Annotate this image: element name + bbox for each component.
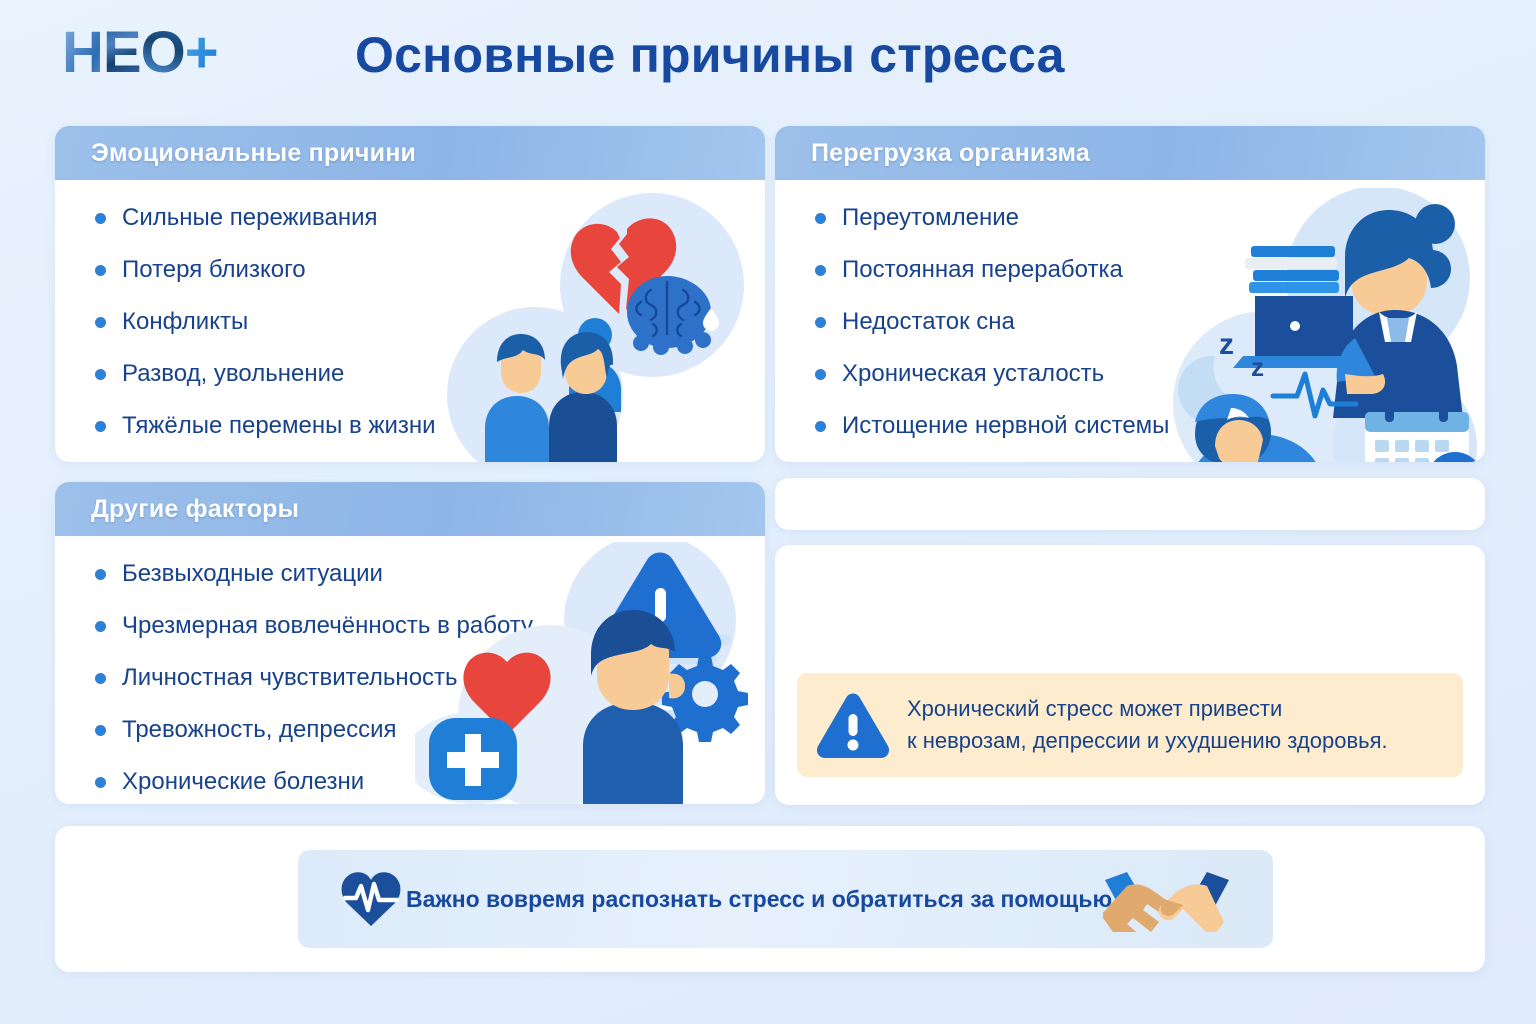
list-item: Хронические болезни	[95, 768, 533, 796]
bullet-dot-icon	[95, 421, 106, 432]
list-overload-causes: Переутомление Постоянная переработка Нед…	[815, 204, 1169, 462]
list-item: Чрезмерная вовлечённость в работу	[95, 612, 533, 640]
list-item-label: Безвыходные ситуации	[122, 560, 383, 588]
list-other-factors: Безвыходные ситуации Чрезмерная вовлечён…	[95, 560, 533, 804]
card-footer: Важно вовремя распознать стресс и обрати…	[55, 826, 1485, 972]
list-item: Недостаток сна	[815, 308, 1169, 336]
card-header-other: Другие факторы	[55, 482, 765, 536]
list-item-label: Чрезмерная вовлечённость в работу	[122, 612, 533, 640]
broken-heart-brain-couple-icon	[445, 190, 765, 462]
list-item: Истощение нервной системы	[815, 412, 1169, 440]
list-item-label: Личностная чувствительность	[122, 664, 458, 692]
svg-text:z: z	[1251, 352, 1264, 382]
card-warning: Хронический стресс может привести к невр…	[775, 545, 1485, 805]
list-item-label: Потеря близкого	[122, 256, 306, 284]
card-header-overload: Перегрузка организма	[775, 126, 1485, 180]
svg-text:z: z	[1219, 328, 1234, 361]
card-header-label: Эмоциональные причини	[91, 139, 416, 168]
card-body-emotional: Сильные переживания Потеря близкого Конф…	[55, 180, 765, 462]
heart-pulse-icon	[340, 870, 402, 928]
callout-text: Хронический стресс может привести к невр…	[907, 693, 1388, 757]
card-spacer-right	[775, 478, 1485, 530]
footer-banner: Важно вовремя распознать стресс и обрати…	[298, 850, 1273, 948]
list-item-label: Постоянная переработка	[842, 256, 1123, 284]
bullet-dot-icon	[95, 621, 106, 632]
list-item: Тревожность, депрессия	[95, 716, 533, 744]
bullet-dot-icon	[95, 213, 106, 224]
card-header-label: Другие факторы	[91, 495, 299, 524]
bullet-dot-icon	[95, 317, 106, 328]
card-body-overload-content: Переутомление Постоянная переработка Нед…	[775, 180, 1485, 462]
bullet-dot-icon	[815, 213, 826, 224]
list-item: Личностная чувствительность	[95, 664, 533, 692]
callout-line-2: к неврозам, депрессии и ухудшению здоров…	[907, 725, 1388, 757]
bullet-dot-icon	[815, 421, 826, 432]
list-item-label: Переутомление	[842, 204, 1019, 232]
card-header-emotional: Эмоциональные причини	[55, 126, 765, 180]
list-item: Тяжёлые перемены в жизни	[95, 412, 436, 440]
list-item-label: Конфликты	[122, 308, 248, 336]
handshake-icon	[1103, 866, 1231, 932]
card-other-factors: Другие факторы Безвыходные ситуации Чрез…	[55, 482, 765, 804]
list-item-label: Хроническая усталость	[842, 360, 1104, 388]
bullet-dot-icon	[95, 569, 106, 580]
bullet-dot-icon	[95, 369, 106, 380]
card-body-other: Безвыходные ситуации Чрезмерная вовлечён…	[55, 536, 765, 804]
footer-text: Важно вовремя распознать стресс и обрати…	[406, 886, 1119, 913]
list-item: Потеря близкого	[95, 256, 436, 284]
list-item: Сильные переживания	[95, 204, 436, 232]
list-item: Развод, увольнение	[95, 360, 436, 388]
list-item: Хроническая усталость	[815, 360, 1169, 388]
card-body-overload: Перегрузка организма Переутомление Посто…	[775, 126, 1485, 462]
bullet-dot-icon	[815, 369, 826, 380]
bullet-dot-icon	[95, 777, 106, 788]
list-item: Постоянная переработка	[815, 256, 1169, 284]
list-item-label: Хронические болезни	[122, 768, 364, 796]
infographic-board: Эмоциональные причини Сильные переживани…	[0, 0, 1536, 1024]
bullet-dot-icon	[95, 725, 106, 736]
list-item-label: Развод, увольнение	[122, 360, 344, 388]
callout-line-1: Хронический стресс может привести	[907, 696, 1282, 721]
list-item-label: Истощение нервной системы	[842, 412, 1169, 440]
list-emotional-causes: Сильные переживания Потеря близкого Конф…	[95, 204, 436, 462]
card-header-label: Перегрузка организма	[811, 139, 1090, 168]
list-item-label: Тяжёлые перемены в жизни	[122, 412, 436, 440]
list-item: Переутомление	[815, 204, 1169, 232]
bullet-dot-icon	[815, 265, 826, 276]
card-emotional-causes: Эмоциональные причини Сильные переживани…	[55, 126, 765, 462]
bullet-dot-icon	[95, 265, 106, 276]
bullet-dot-icon	[95, 673, 106, 684]
overwork-sleep-calendar-icon: z z	[1173, 188, 1485, 462]
callout-chronic-stress: Хронический стресс может привести к невр…	[797, 673, 1463, 777]
warning-triangle-icon	[815, 692, 891, 758]
list-item-label: Недостаток сна	[842, 308, 1015, 336]
list-item-label: Сильные переживания	[122, 204, 377, 232]
list-item-label: Тревожность, депрессия	[122, 716, 397, 744]
list-item: Безвыходные ситуации	[95, 560, 533, 588]
list-item: Конфликты	[95, 308, 436, 336]
bullet-dot-icon	[815, 317, 826, 328]
